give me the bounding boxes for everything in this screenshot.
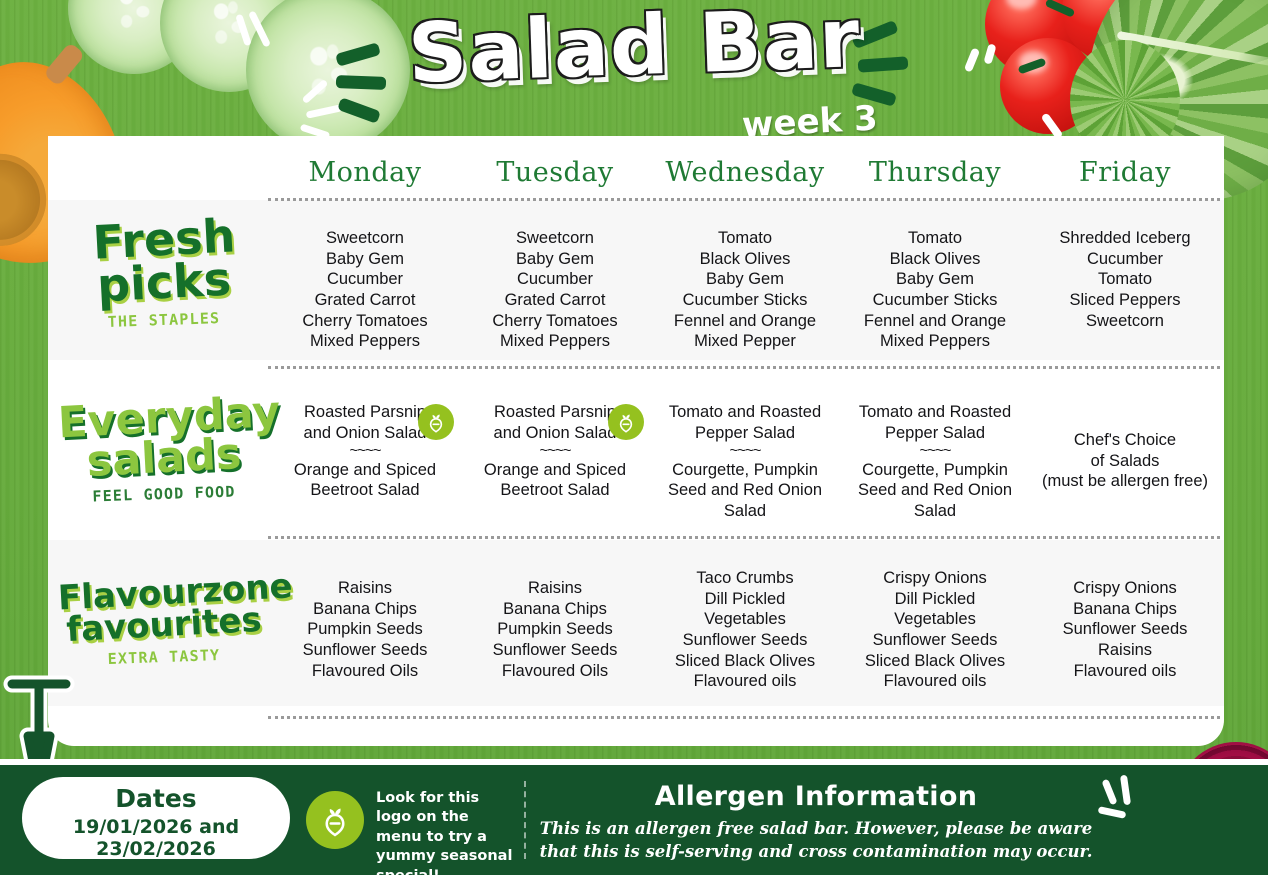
menu-item: Taco Crumbs — [656, 568, 834, 589]
menu-cell: Taco Crumbs Dill Pickled Vegetables Sunf… — [650, 568, 840, 692]
menu-item: Baby Gem — [276, 249, 454, 270]
menu-item: Vegetables — [656, 609, 834, 630]
menu-item: Cucumber — [466, 269, 644, 290]
menu-item: Mixed Peppers — [846, 331, 1024, 352]
burst-dash — [851, 20, 899, 49]
menu-item: Salad — [846, 501, 1024, 522]
menu-cell: Roasted Parsnip and Onion Salad ~~~~ Ora… — [460, 402, 650, 522]
menu-item: Cherry Tomatoes — [276, 311, 454, 332]
sparkle-doodle — [1120, 775, 1131, 806]
row-cells-fresh-picks: Sweetcorn Baby Gem Cucumber Grated Carro… — [270, 228, 1220, 352]
menu-item: Crispy Onions — [1036, 578, 1214, 599]
menu-cell: Crispy Onions Dill Pickled Vegetables Su… — [840, 568, 1030, 692]
menu-cell: Roasted Parsnip and Onion Salad ~~~~ Ora… — [270, 402, 460, 522]
menu-cell: Tomato Black Olives Baby Gem Cucumber St… — [650, 228, 840, 352]
menu-item: Chef's Choice — [1036, 430, 1214, 451]
menu-item: Beetroot Salad — [466, 480, 644, 501]
row-label-fresh-picks: Fresh picks THE STAPLES — [58, 218, 270, 329]
menu-cell: Sweetcorn Baby Gem Cucumber Grated Carro… — [270, 228, 460, 352]
menu-item: Baby Gem — [466, 249, 644, 270]
menu-item: Black Olives — [846, 249, 1024, 270]
menu-item: Baby Gem — [656, 269, 834, 290]
menu-item: Grated Carrot — [466, 290, 644, 311]
menu-item: Orange and Spiced — [466, 460, 644, 481]
menu-item: Seed and Red Onion — [846, 480, 1024, 501]
footer-divider-line — [524, 781, 526, 859]
menu-item: Sweetcorn — [466, 228, 644, 249]
menu-item: Seed and Red Onion — [656, 480, 834, 501]
menu-item: Pumpkin Seeds — [276, 619, 454, 640]
menu-item: Mixed Pepper — [656, 331, 834, 352]
menu-item: Cucumber Sticks — [656, 290, 834, 311]
row-divider — [268, 198, 1220, 201]
menu-item: Grated Carrot — [276, 290, 454, 311]
menu-item: Tomato — [846, 228, 1024, 249]
burst-dash — [858, 56, 909, 72]
dates-title: Dates — [22, 786, 290, 812]
row-label-everyday-salads: Everyday salads FEEL GOOD FOOD — [58, 398, 270, 503]
menu-item: Cucumber — [1036, 249, 1214, 270]
sparkle-doodle — [1101, 779, 1117, 806]
allergen-title: Allergen Information — [538, 781, 1094, 812]
day-header-wednesday: Wednesday — [650, 157, 840, 188]
page-title: Salad Bar — [407, 0, 862, 96]
menu-item: Dill Pickled — [656, 589, 834, 610]
row-cells-everyday-salads: Roasted Parsnip and Onion Salad ~~~~ Ora… — [270, 402, 1220, 522]
day-header-tuesday: Tuesday — [460, 157, 650, 188]
menu-item: Flavoured Oils — [276, 661, 454, 682]
dates-value: 19/01/2026 and 23/02/2026 — [22, 816, 290, 860]
menu-item: Sunflower Seeds — [656, 630, 834, 651]
menu-item: Orange and Spiced — [276, 460, 454, 481]
menu-cell: Crispy Onions Banana Chips Sunflower See… — [1030, 568, 1220, 692]
menu-item: Pumpkin Seeds — [466, 619, 644, 640]
burst-dash — [336, 75, 386, 90]
menu-item: Crispy Onions — [846, 568, 1024, 589]
menu-item: of Salads — [1036, 451, 1214, 472]
item-separator: ~~~~ — [846, 443, 1024, 460]
day-header-row: Monday Tuesday Wednesday Thursday Friday — [270, 150, 1220, 194]
row-label-line2: favourites — [57, 604, 270, 647]
menu-item: Pepper Salad — [656, 423, 834, 444]
menu-item: Banana Chips — [466, 599, 644, 620]
menu-item: Baby Gem — [846, 269, 1024, 290]
seasonal-special-beetroot-icon — [608, 404, 644, 440]
day-header-thursday: Thursday — [840, 157, 1030, 188]
seasonal-logo-note: Look for this logo on the menu to try a … — [376, 789, 516, 875]
menu-item: Flavoured oils — [1036, 661, 1214, 682]
menu-cell: Tomato Black Olives Baby Gem Cucumber St… — [840, 228, 1030, 352]
item-separator: ~~~~ — [466, 443, 644, 460]
menu-item: Pepper Salad — [846, 423, 1024, 444]
seasonal-special-beetroot-icon — [418, 404, 454, 440]
menu-item: Flavoured Oils — [466, 661, 644, 682]
row-label-flavourzone: Flavourzone favourites EXTRA TASTY — [58, 578, 270, 666]
row-label-line2: salads — [57, 432, 271, 483]
menu-item: Courgette, Pumpkin — [656, 460, 834, 481]
menu-item: Shredded Iceberg — [1036, 228, 1214, 249]
menu-item: (must be allergen free) — [1036, 471, 1214, 492]
allergen-body: This is an allergen free salad bar. Howe… — [538, 818, 1094, 864]
menu-item: Flavoured oils — [846, 671, 1024, 692]
menu-item: Sweetcorn — [276, 228, 454, 249]
menu-item: Cucumber Sticks — [846, 290, 1024, 311]
menu-item: Tomato and Roasted — [656, 402, 834, 423]
menu-item: Tomato — [1036, 269, 1214, 290]
day-header-friday: Friday — [1030, 157, 1220, 188]
menu-cell: Shredded Iceberg Cucumber Tomato Sliced … — [1030, 228, 1220, 352]
row-divider — [268, 716, 1220, 719]
menu-item: Sliced Black Olives — [846, 651, 1024, 672]
menu-item: Raisins — [276, 578, 454, 599]
sparkle-doodle — [1098, 806, 1127, 819]
menu-item: Fennel and Orange — [846, 311, 1024, 332]
menu-cell: Raisins Banana Chips Pumpkin Seeds Sunfl… — [270, 568, 460, 692]
menu-item: Raisins — [1036, 640, 1214, 661]
menu-item: Vegetables — [846, 609, 1024, 630]
menu-cell: Sweetcorn Baby Gem Cucumber Grated Carro… — [460, 228, 650, 352]
item-separator: ~~~~ — [656, 443, 834, 460]
menu-item: Sunflower Seeds — [846, 630, 1024, 651]
cucumber-slice-icon — [246, 0, 410, 152]
footer: Dates 19/01/2026 and 23/02/2026 Look for… — [0, 765, 1268, 875]
menu-item: Banana Chips — [276, 599, 454, 620]
menu-item: Salad — [656, 501, 834, 522]
menu-item: Sunflower Seeds — [1036, 619, 1214, 640]
menu-item: Black Olives — [656, 249, 834, 270]
menu-item: Courgette, Pumpkin — [846, 460, 1024, 481]
menu-cell: Chef's Choice of Salads (must be allerge… — [1030, 402, 1220, 522]
menu-item: Fennel and Orange — [656, 311, 834, 332]
row-divider — [268, 536, 1220, 539]
menu-item: Tomato and Roasted — [846, 402, 1024, 423]
menu-item: Tomato — [656, 228, 834, 249]
menu-item: Flavoured oils — [656, 671, 834, 692]
allergen-information: Allergen Information This is an allergen… — [538, 781, 1094, 864]
day-header-monday: Monday — [270, 157, 460, 188]
menu-cell: Tomato and Roasted Pepper Salad ~~~~ Cou… — [650, 402, 840, 522]
row-divider — [268, 366, 1220, 369]
menu-item: Cherry Tomatoes — [466, 311, 644, 332]
menu-cell: Tomato and Roasted Pepper Salad ~~~~ Cou… — [840, 402, 1030, 522]
menu-item: Sweetcorn — [1036, 311, 1214, 332]
menu-item: Raisins — [466, 578, 644, 599]
menu-item: Sliced Black Olives — [656, 651, 834, 672]
menu-item: Sunflower Seeds — [466, 640, 644, 661]
menu-item: Mixed Peppers — [466, 331, 644, 352]
menu-item: Beetroot Salad — [276, 480, 454, 501]
menu-item: Sunflower Seeds — [276, 640, 454, 661]
menu-cell: Raisins Banana Chips Pumpkin Seeds Sunfl… — [460, 568, 650, 692]
salad-bar-poster: Salad Bar week 3 Monday Tuesday Wednesda… — [0, 0, 1268, 875]
seasonal-special-beetroot-icon — [306, 791, 364, 849]
dates-pill: Dates 19/01/2026 and 23/02/2026 — [22, 777, 290, 859]
menu-item: Cucumber — [276, 269, 454, 290]
menu-item: Dill Pickled — [846, 589, 1024, 610]
item-separator: ~~~~ — [276, 443, 454, 460]
menu-item: Sliced Peppers — [1036, 290, 1214, 311]
row-tagline: THE STAPLES — [58, 307, 270, 332]
sparkle-doodle — [964, 47, 980, 72]
menu-item: Banana Chips — [1036, 599, 1214, 620]
row-cells-flavourzone: Raisins Banana Chips Pumpkin Seeds Sunfl… — [270, 568, 1220, 692]
menu-item: Mixed Peppers — [276, 331, 454, 352]
